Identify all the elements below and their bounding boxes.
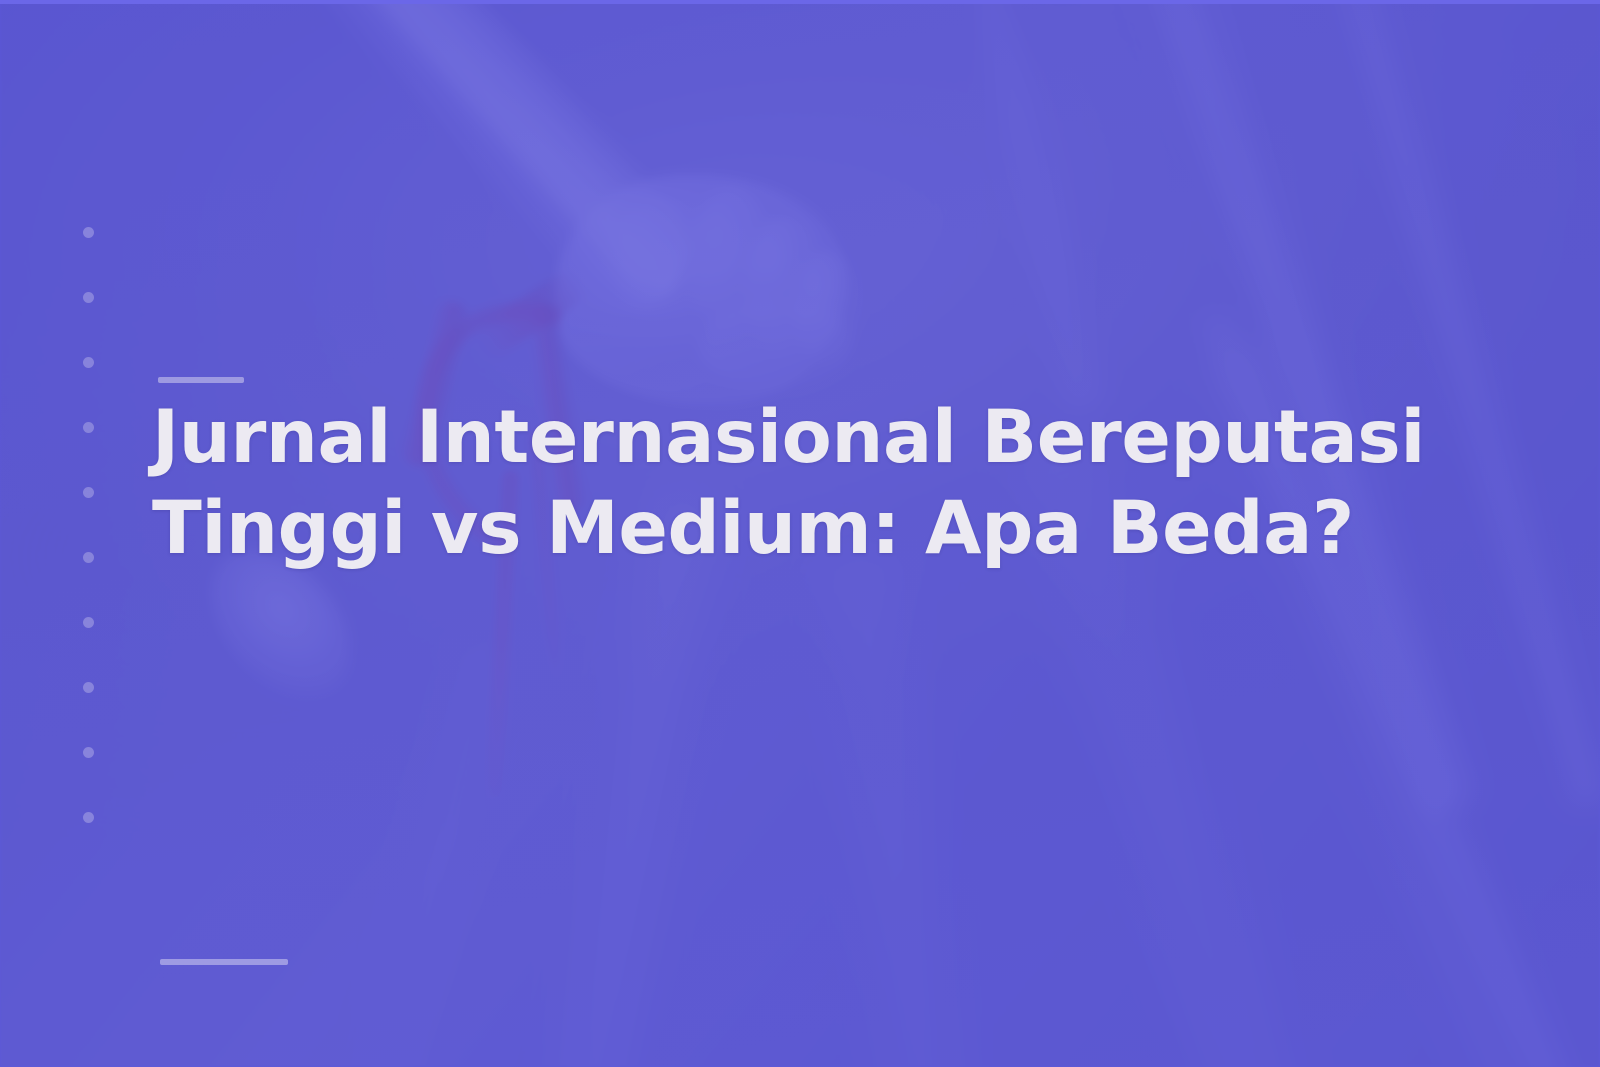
decorative-dot <box>83 812 94 823</box>
slide-content: Jurnal Internasional Bereputasi Tinggi v… <box>0 0 1600 1067</box>
decorative-dot <box>83 552 94 563</box>
bottom-accent-rule <box>160 959 288 965</box>
decorative-dot <box>83 682 94 693</box>
slide-canvas: Jurnal Internasional Bereputasi Tinggi v… <box>0 0 1600 1067</box>
decorative-dot <box>83 487 94 498</box>
decorative-dot <box>83 747 94 758</box>
decorative-dot <box>83 292 94 303</box>
decorative-dot <box>83 357 94 368</box>
decorative-dot <box>83 227 94 238</box>
page-title: Jurnal Internasional Bereputasi Tinggi v… <box>152 392 1442 575</box>
top-accent-rule <box>158 377 244 383</box>
dot-rail <box>83 227 94 823</box>
decorative-dot <box>83 422 94 433</box>
decorative-dot <box>83 617 94 628</box>
